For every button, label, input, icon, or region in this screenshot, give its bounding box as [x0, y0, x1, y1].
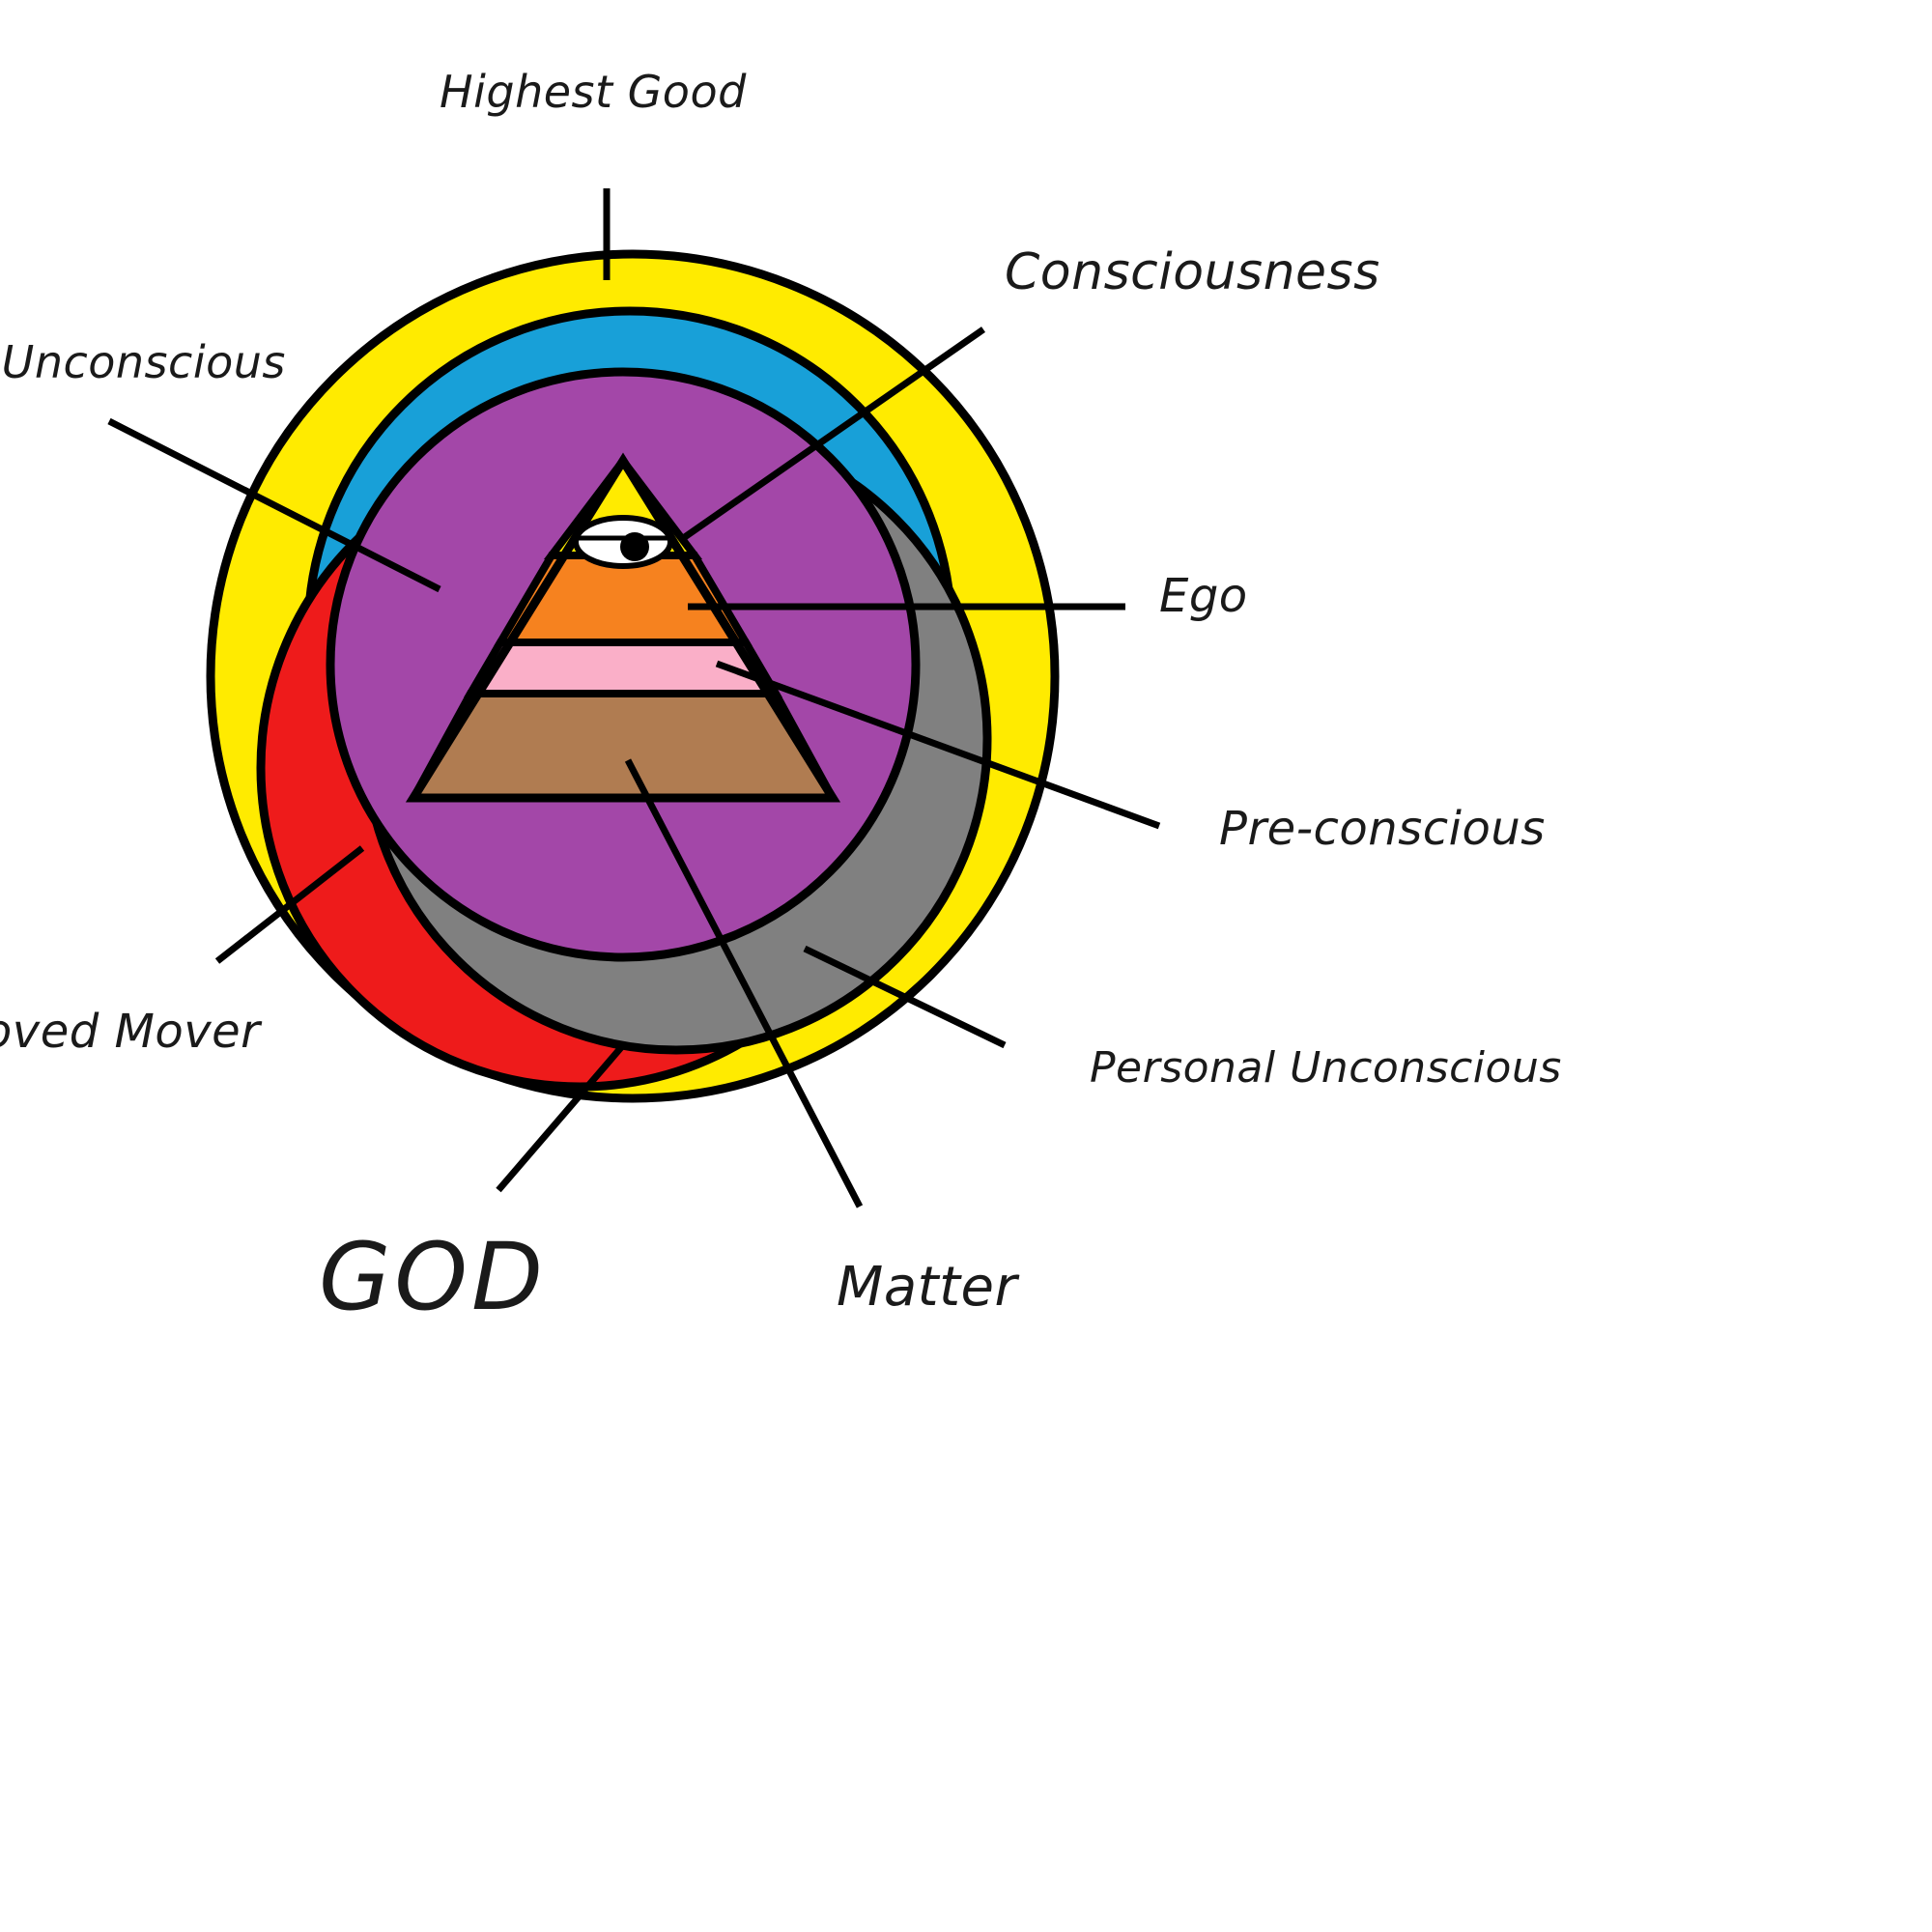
label-matter: Matter	[837, 1256, 1017, 1319]
label-personal-unconscious: Personal Unconscious	[1090, 1043, 1562, 1093]
diagram-canvas: Highest Good Consciousness ve Unconsciou…	[0, 0, 1932, 1932]
label-collective-unconscious: ve Unconscious	[0, 336, 286, 388]
eye-icon	[576, 518, 670, 566]
label-highest-good: Highest Good	[440, 66, 747, 118]
label-unmoved-mover: noved Mover	[0, 1005, 260, 1059]
label-consciousness: Consciousness	[1005, 243, 1380, 301]
label-pre-conscious: Pre-conscious	[1219, 802, 1546, 856]
label-ego: Ego	[1159, 569, 1248, 623]
label-god: GOD	[319, 1223, 547, 1331]
pyramid-band-matter[interactable]	[413, 694, 833, 798]
venn-pyramid-diagram	[0, 0, 1932, 1932]
